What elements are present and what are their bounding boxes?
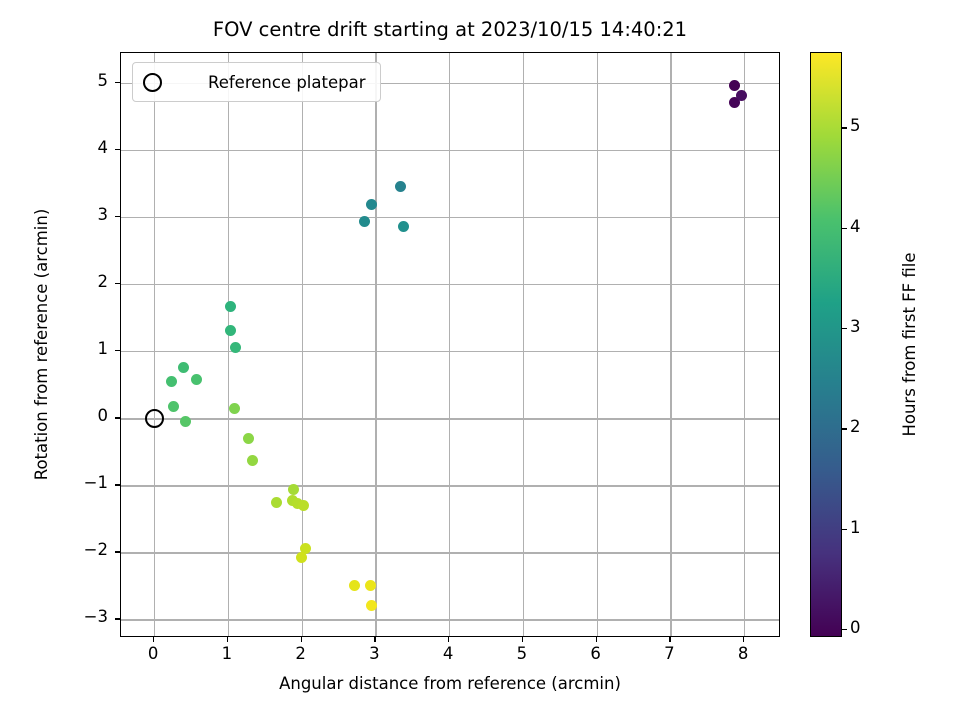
data-point — [365, 580, 376, 591]
data-point — [180, 416, 191, 427]
x-tick-mark — [743, 637, 744, 642]
data-point — [243, 433, 254, 444]
y-tick-label: −1 — [62, 473, 108, 492]
data-point — [229, 403, 240, 414]
colorbar-tick-label: 0 — [850, 618, 861, 637]
legend: Reference platepar — [132, 62, 381, 102]
page-title: FOV centre drift starting at 2023/10/15 … — [120, 18, 780, 41]
data-point — [191, 374, 202, 385]
y-tick-label: −2 — [62, 540, 108, 559]
x-tick-mark — [374, 637, 375, 642]
y-tick-mark — [115, 484, 120, 485]
data-point — [729, 80, 740, 91]
colorbar-tick-mark — [842, 629, 847, 630]
colorbar-tick-label: 2 — [850, 417, 861, 436]
x-tick-label: 0 — [133, 644, 173, 663]
colorbar[interactable] — [810, 52, 842, 637]
x-tick-label: 2 — [281, 644, 321, 663]
x-tick-label: 5 — [502, 644, 542, 663]
y-tick-label: 1 — [62, 339, 108, 358]
y-tick-label: −3 — [62, 607, 108, 626]
colorbar-tick-label: 3 — [850, 317, 861, 336]
colorbar-tick-label: 5 — [850, 116, 861, 135]
colorbar-tick-mark — [842, 529, 847, 530]
y-tick-mark — [115, 551, 120, 552]
colorbar-tick-mark — [842, 228, 847, 229]
y-tick-mark — [115, 417, 120, 418]
y-tick-label: 0 — [62, 406, 108, 425]
y-axis-label: Rotation from reference (arcmin) — [32, 52, 51, 637]
reference-platepar-marker — [145, 409, 164, 428]
y-tick-label: 2 — [62, 272, 108, 291]
x-tick-mark — [227, 637, 228, 642]
data-point — [359, 216, 370, 227]
y-tick-label: 5 — [62, 71, 108, 90]
data-point — [395, 181, 406, 192]
colorbar-tick-label: 1 — [850, 518, 861, 537]
data-point — [398, 221, 409, 232]
x-tick-mark — [448, 637, 449, 642]
y-tick-mark — [115, 216, 120, 217]
data-point — [247, 455, 258, 466]
x-tick-mark — [596, 637, 597, 642]
colorbar-tick-label: 4 — [850, 217, 861, 236]
data-point — [225, 325, 236, 336]
data-point — [271, 497, 282, 508]
x-tick-mark — [301, 637, 302, 642]
y-tick-label: 3 — [62, 205, 108, 224]
x-tick-mark — [153, 637, 154, 642]
colorbar-title: Hours from first FF file — [900, 52, 919, 637]
y-tick-mark — [115, 618, 120, 619]
colorbar-tick-mark — [842, 328, 847, 329]
plot-area — [120, 52, 780, 637]
x-tick-mark — [669, 637, 670, 642]
data-point — [298, 500, 309, 511]
data-point — [168, 401, 179, 412]
colorbar-tick-mark — [842, 428, 847, 429]
x-tick-label: 7 — [649, 644, 689, 663]
colorbar-tick-mark — [842, 127, 847, 128]
y-tick-mark — [115, 82, 120, 83]
y-tick-label: 4 — [62, 138, 108, 157]
x-axis-label: Angular distance from reference (arcmin) — [120, 674, 780, 693]
x-tick-mark — [522, 637, 523, 642]
data-point — [288, 484, 299, 495]
data-point — [230, 342, 241, 353]
x-tick-label: 8 — [723, 644, 763, 663]
data-point — [178, 362, 189, 373]
y-tick-mark — [115, 283, 120, 284]
points-layer — [121, 53, 779, 636]
x-tick-label: 3 — [354, 644, 394, 663]
data-point — [366, 199, 377, 210]
data-point — [296, 552, 307, 563]
legend-marker-open-circle — [143, 73, 162, 92]
x-tick-label: 4 — [428, 644, 468, 663]
data-point — [736, 90, 747, 101]
data-point — [349, 580, 360, 591]
data-point — [166, 376, 177, 387]
figure-canvas: FOV centre drift starting at 2023/10/15 … — [0, 0, 960, 720]
x-tick-label: 6 — [576, 644, 616, 663]
y-tick-mark — [115, 149, 120, 150]
x-tick-label: 1 — [207, 644, 247, 663]
data-point — [366, 600, 377, 611]
y-tick-mark — [115, 350, 120, 351]
data-point — [225, 301, 236, 312]
legend-label: Reference platepar — [172, 73, 366, 92]
